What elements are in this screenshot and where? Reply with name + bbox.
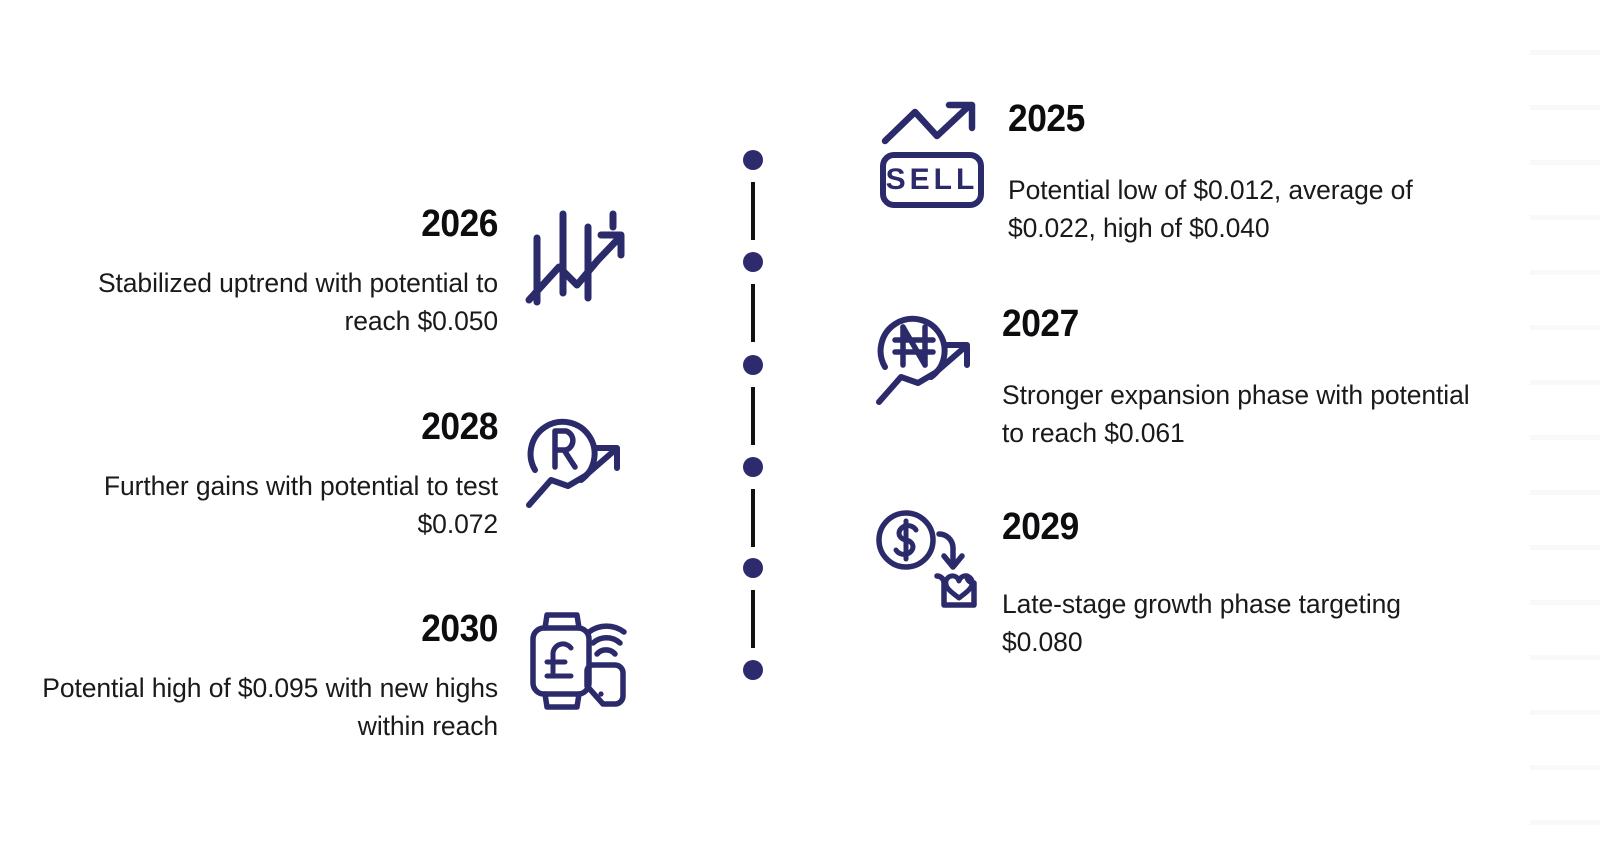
- timeline-entry-2027: 2027 Stronger expansion phase with poten…: [872, 305, 1492, 452]
- timeline-entry-text: 2028 Further gains with potential to tes…: [28, 408, 498, 543]
- entry-description: Further gains with potential to test $0.…: [28, 468, 498, 543]
- timeline-entry-2026: 2026 Stabilized uptrend with potential t…: [0, 205, 630, 340]
- candlestick-chart-uptrend-icon: [522, 205, 630, 315]
- price-forecast-timeline-infographic: 2026 Stabilized uptrend with potential t…: [0, 0, 1600, 841]
- timeline-dash: [751, 590, 755, 648]
- timeline-dash: [751, 387, 755, 445]
- timeline-entry-text: 2029 Late-stage growth phase targeting $…: [1002, 508, 1472, 661]
- timeline-entry-text: 2025 Potential low of $0.012, average of…: [1008, 100, 1478, 247]
- smartwatch-contactless-payment-icon: [522, 610, 630, 720]
- entry-year-label: 2028: [61, 408, 498, 446]
- entry-description: Potential low of $0.012, average of $0.0…: [1008, 172, 1478, 247]
- timeline-dot: [743, 150, 763, 170]
- timeline-dash: [751, 182, 755, 240]
- entry-year-label: 2027: [1002, 305, 1439, 343]
- timeline-dot: [743, 252, 763, 272]
- timeline-axis: [743, 140, 763, 680]
- timeline-dot: [743, 355, 763, 375]
- timeline-dot: [743, 660, 763, 680]
- timeline-entry-2029: 2029 Late-stage growth phase targeting $…: [872, 508, 1492, 661]
- entry-year-label: 2025: [1008, 100, 1445, 138]
- dollar-coin-donation-heart-icon: [872, 508, 980, 618]
- timeline-dash: [751, 284, 755, 342]
- entry-description: Stronger expansion phase with potential …: [1002, 377, 1472, 452]
- sell-badge-label: SELL: [886, 163, 979, 196]
- timeline-entry-2025: SELL 2025 Potential low of $0.012, avera…: [878, 100, 1498, 247]
- naira-currency-uptrend-icon: [872, 305, 980, 415]
- timeline-entry-text: 2030 Potential high of $0.095 with new h…: [28, 610, 498, 745]
- timeline-entry-2030: 2030 Potential high of $0.095 with new h…: [0, 610, 630, 745]
- entry-description: Potential high of $0.095 with new highs …: [28, 670, 498, 745]
- entry-description: Stabilized uptrend with potential to rea…: [28, 265, 498, 340]
- timeline-dot: [743, 558, 763, 578]
- sell-signal-uptrend-icon: SELL: [878, 100, 986, 215]
- timeline-entry-text: 2027 Stronger expansion phase with poten…: [1002, 305, 1472, 452]
- entry-description: Late-stage growth phase targeting $0.080: [1002, 586, 1472, 661]
- entry-year-label: 2030: [61, 610, 498, 648]
- entry-year-label: 2029: [1002, 508, 1439, 546]
- entry-year-label: 2026: [61, 205, 498, 243]
- timeline-dash: [751, 489, 755, 547]
- rand-currency-uptrend-icon: [522, 408, 630, 518]
- timeline-entry-text: 2026 Stabilized uptrend with potential t…: [28, 205, 498, 340]
- timeline-dot: [743, 457, 763, 477]
- timeline-entry-2028: 2028 Further gains with potential to tes…: [0, 408, 630, 543]
